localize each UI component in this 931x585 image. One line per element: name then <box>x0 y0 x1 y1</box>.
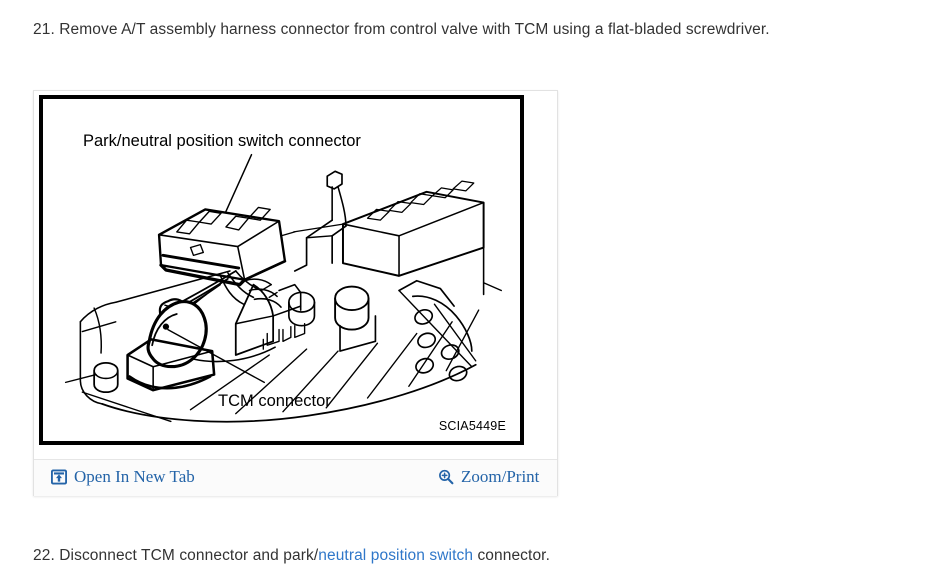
figure-caption-park-neutral-switch: Park/neutral position switch connector <box>83 132 361 151</box>
zoom-print-button[interactable]: Zoom/Print <box>438 467 539 487</box>
figure-reference-code: SCIA5449E <box>439 419 506 433</box>
magnifier-plus-icon <box>438 469 454 485</box>
step-22-suffix: connector. <box>473 547 550 564</box>
step-22-prefix: 22. Disconnect TCM connector and park/ <box>33 547 318 564</box>
instruction-step-22: 22. Disconnect TCM connector and park/ne… <box>33 546 550 566</box>
figure-image-frame: Park/neutral position switch connector T… <box>39 95 524 445</box>
figure-caption-tcm-connector: TCM connector <box>218 392 331 411</box>
instruction-step-21: 21. Remove A/T assembly harness connecto… <box>33 20 770 40</box>
open-in-new-tab-label: Open In New Tab <box>74 467 195 487</box>
open-in-new-window-icon <box>51 469 67 485</box>
zoom-print-label: Zoom/Print <box>461 467 539 487</box>
neutral-position-switch-link[interactable]: neutral position switch <box>318 547 473 564</box>
open-in-new-tab-button[interactable]: Open In New Tab <box>51 467 195 487</box>
figure-card: Park/neutral position switch connector T… <box>33 90 558 496</box>
figure-toolbar: Open In New Tab Zoom/Print <box>34 459 557 496</box>
